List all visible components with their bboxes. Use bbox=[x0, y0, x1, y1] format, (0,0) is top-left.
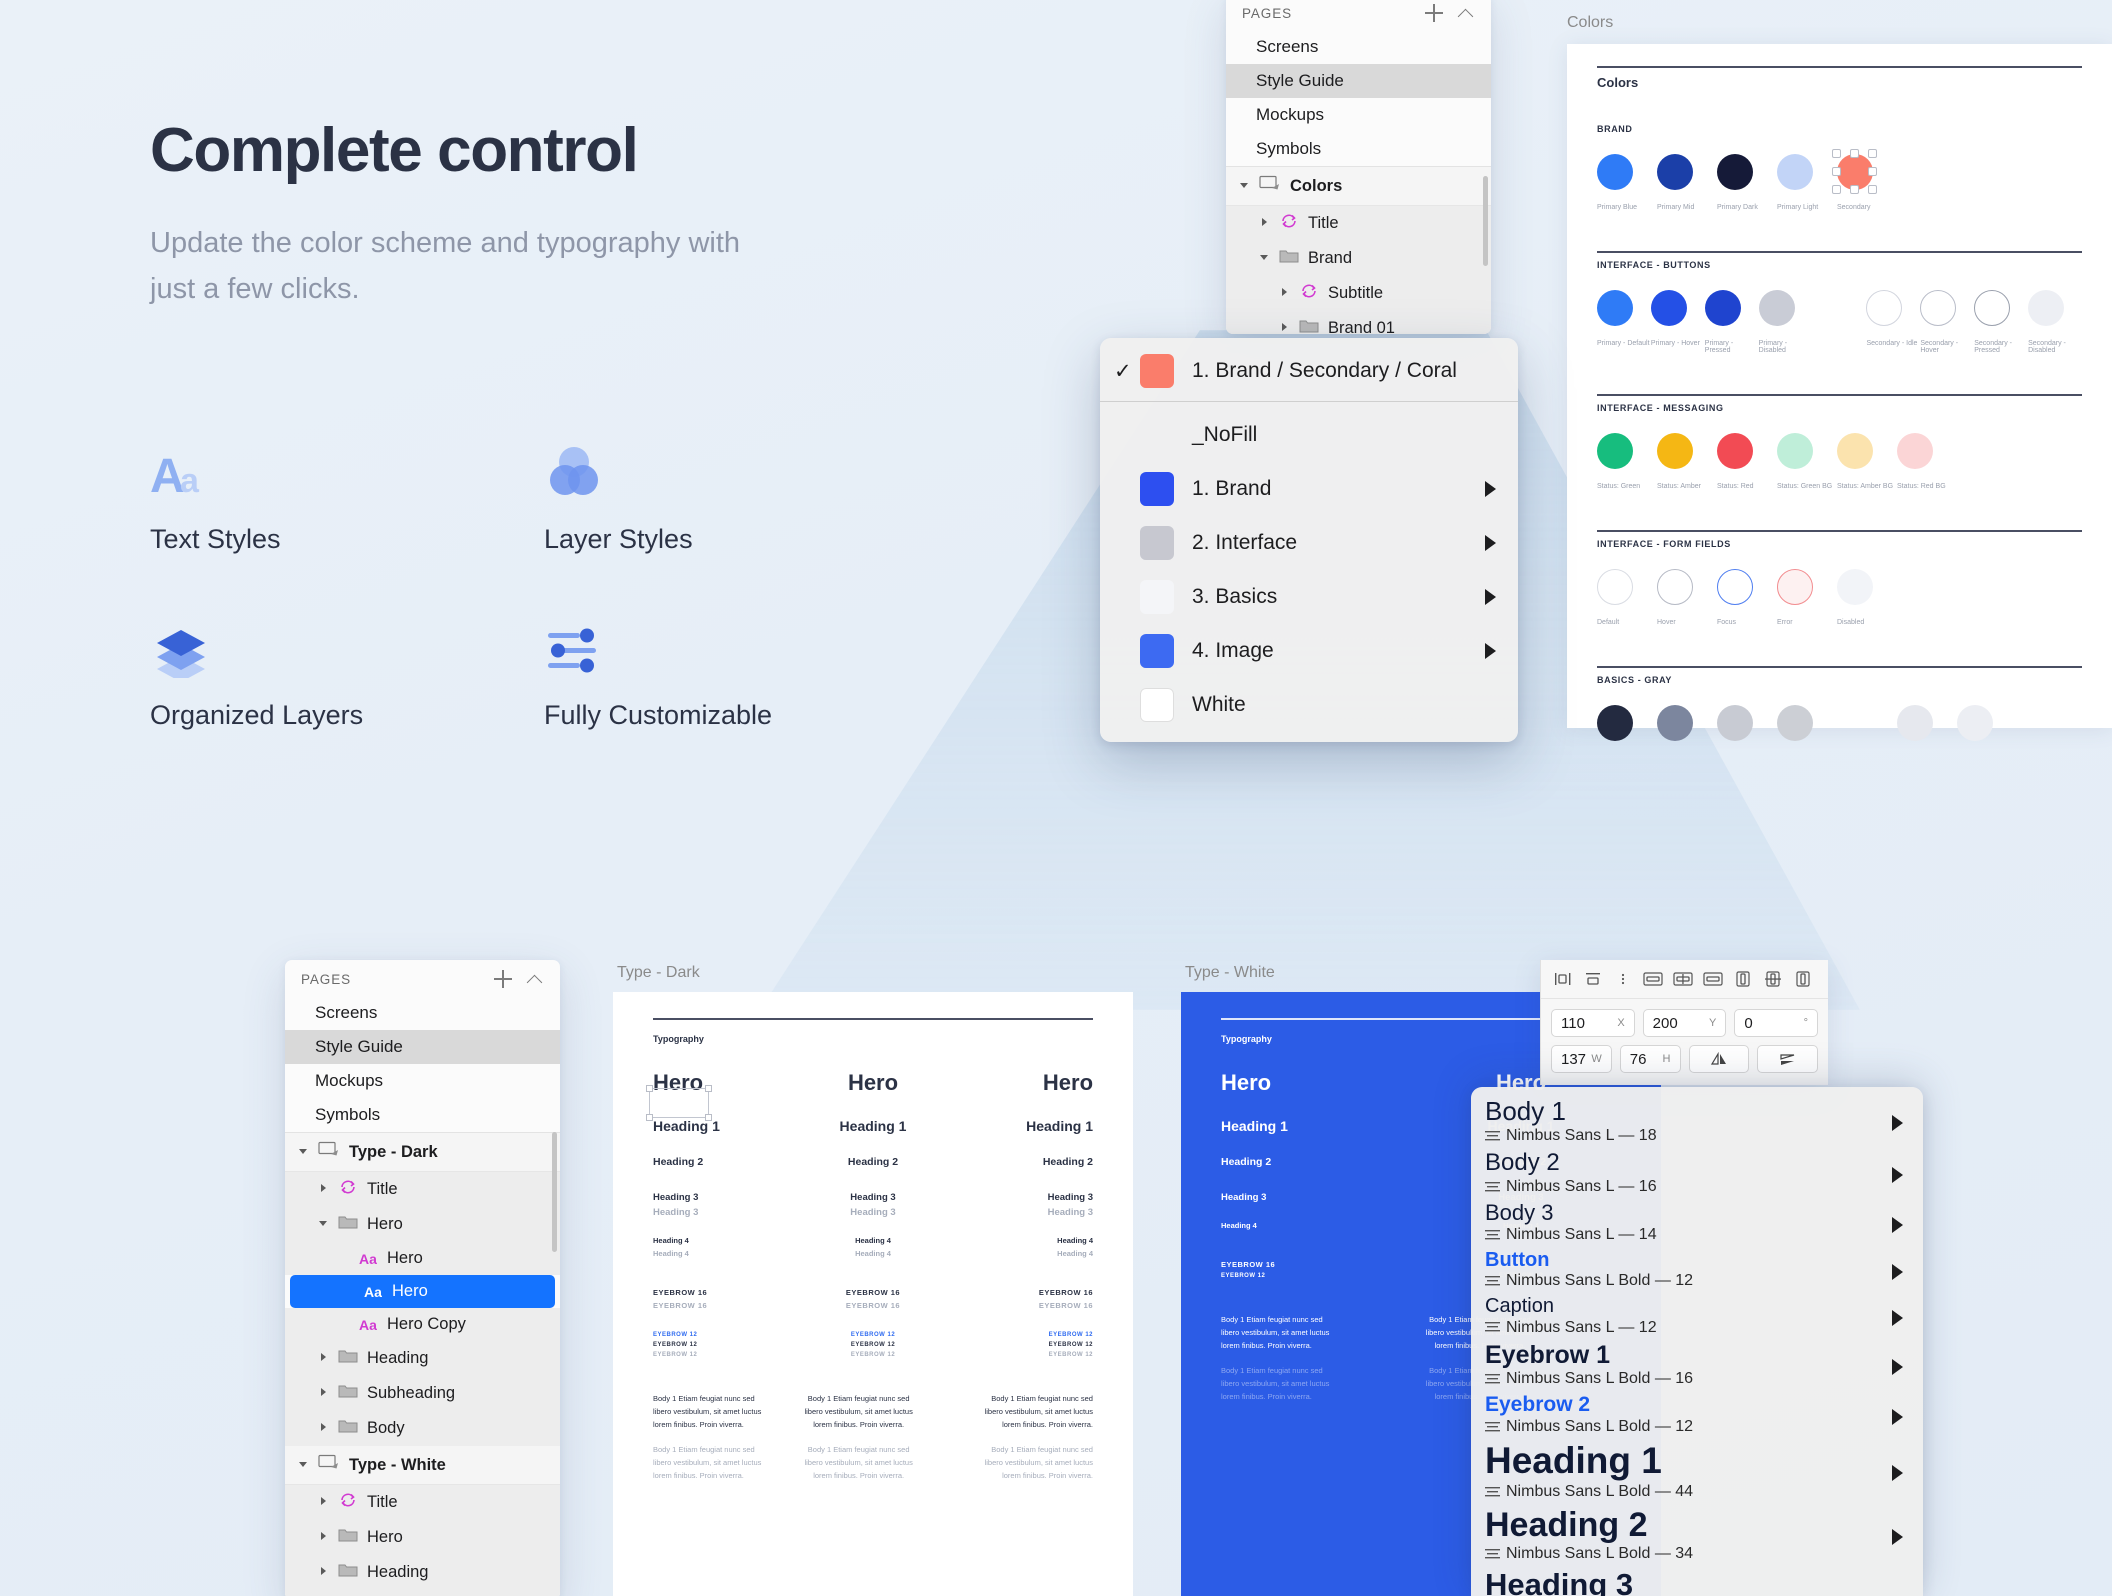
color-menu-item[interactable]: 1. Brand bbox=[1100, 462, 1518, 516]
folder-icon bbox=[1279, 248, 1299, 269]
swatch[interactable]: Disabled bbox=[1837, 569, 1897, 626]
layer-label: Heading bbox=[367, 1563, 428, 1582]
swatch[interactable]: Secondary - Hover bbox=[1920, 290, 1974, 354]
twisty-right-icon[interactable] bbox=[317, 1384, 329, 1403]
swatch[interactable] bbox=[1717, 705, 1777, 755]
type-specimen-cell: Heading 4 bbox=[800, 1249, 947, 1258]
type-specimen-cell: EYEBROW 12 bbox=[946, 1352, 1093, 1358]
folder-icon bbox=[338, 1348, 358, 1369]
color-section: BASICS - GRAY bbox=[1597, 666, 2082, 755]
text-layer-icon: Aa bbox=[358, 1251, 378, 1267]
page-item-mockups[interactable]: Mockups bbox=[1226, 98, 1491, 132]
rule bbox=[1597, 530, 2082, 532]
page-item-style-guide[interactable]: Style Guide bbox=[1226, 64, 1491, 98]
plus-icon[interactable] bbox=[494, 970, 512, 988]
transform-fields[interactable]: 110 X 200 Y 0 ° 137 W 76 H bbox=[1541, 999, 1828, 1085]
submenu-arrow-icon bbox=[1892, 1167, 1903, 1183]
swatch-dot bbox=[1866, 290, 1902, 326]
menu-item-label: 1. Brand bbox=[1192, 477, 1271, 501]
twisty-down-icon[interactable] bbox=[1238, 177, 1250, 196]
height-field[interactable]: 76 H bbox=[1620, 1045, 1681, 1073]
type-specimen-row: Heading 3Heading 3Heading 3 bbox=[613, 1207, 1133, 1218]
marketing-copy: Complete control Update the color scheme… bbox=[150, 118, 890, 313]
layer-label: Heading bbox=[367, 1349, 428, 1368]
layer-row[interactable]: Brand bbox=[1226, 241, 1491, 276]
page-item-screens[interactable]: Screens bbox=[285, 996, 560, 1030]
menu-item-selected[interactable]: ✓ 1. Brand / Secondary / Coral bbox=[1100, 344, 1518, 398]
layer-label: Brand bbox=[1308, 249, 1352, 268]
text-style-meta: Nimbus Sans L Bold — 16 bbox=[1485, 1369, 1909, 1390]
twisty-right-icon[interactable] bbox=[317, 1528, 329, 1547]
twisty-right-icon[interactable] bbox=[317, 1349, 329, 1368]
rule bbox=[653, 1018, 1093, 1020]
text-style-item[interactable]: ButtonNimbus Sans L Bold — 12 bbox=[1471, 1249, 1923, 1295]
text-style-meta-label: Nimbus Sans L Bold — 34 bbox=[1506, 1544, 1693, 1565]
folder-icon bbox=[338, 1562, 358, 1583]
swatch-caption: Error bbox=[1777, 619, 1837, 626]
swatch[interactable] bbox=[1813, 290, 1867, 354]
color-swatch bbox=[1140, 580, 1174, 614]
feature-grid: A a Text Styles Layer Styles Organized L… bbox=[150, 440, 938, 792]
type-specimen-row: EYEBROW 12EYEBROW 12EYEBROW 12 bbox=[613, 1332, 1133, 1338]
color-picker-menu[interactable]: ✓ 1. Brand / Secondary / Coral _NoFill1.… bbox=[1100, 338, 1518, 742]
align-vertical-bottom-icon[interactable] bbox=[1791, 968, 1815, 990]
layer-row[interactable]: Heading bbox=[285, 1555, 560, 1590]
type-specimen-cell: Heading 4 bbox=[1221, 1221, 1421, 1230]
layer-row[interactable]: Brand 01 bbox=[1226, 311, 1491, 334]
text-style-item[interactable]: CaptionNimbus Sans L — 12 bbox=[1471, 1295, 1923, 1341]
swatch-dot bbox=[1657, 433, 1693, 469]
swatch[interactable]: Status: Amber bbox=[1657, 433, 1717, 490]
twisty-down-icon[interactable] bbox=[317, 1215, 329, 1234]
feature-label: Layer Styles bbox=[544, 524, 938, 555]
type-specimen-cell: EYEBROW 12 bbox=[653, 1342, 800, 1348]
type-specimen-cell: Heading 1 bbox=[1221, 1118, 1421, 1134]
rule bbox=[1597, 666, 2082, 668]
text-style-name: Heading 3 bbox=[1485, 1568, 1909, 1596]
swatch-dot bbox=[1597, 433, 1633, 469]
swatch-caption: Primary Mid bbox=[1657, 204, 1717, 211]
swatch-caption: Status: Amber bbox=[1657, 483, 1717, 490]
page-title: Complete control bbox=[150, 118, 890, 183]
layer-row[interactable]: Heading bbox=[285, 1341, 560, 1376]
page-item-symbols[interactable]: Symbols bbox=[1226, 132, 1491, 166]
swatch[interactable]: Secondary - Pressed bbox=[1974, 290, 2028, 354]
twisty-down-icon[interactable] bbox=[1258, 249, 1270, 268]
submenu-arrow-icon bbox=[1892, 1217, 1903, 1233]
align-vertical-center-icon[interactable] bbox=[1761, 968, 1785, 990]
align-toolbar[interactable] bbox=[1541, 960, 1828, 999]
text-style-meta-label: Nimbus Sans L — 14 bbox=[1506, 1225, 1657, 1246]
swatch-caption: Primary Blue bbox=[1597, 204, 1657, 211]
type-specimen-row: Heading 4Heading 4Heading 4 bbox=[613, 1236, 1133, 1245]
text-style-item[interactable]: Eyebrow 2Nimbus Sans L Bold — 12 bbox=[1471, 1393, 1923, 1440]
text-style-item[interactable]: Body 1Nimbus Sans L — 18 bbox=[1471, 1097, 1923, 1150]
inspector-panel[interactable]: 110 X 200 Y 0 ° 137 W 76 H bbox=[1540, 960, 1828, 1085]
swatch-caption: Primary - Pressed bbox=[1705, 340, 1759, 354]
type-specimen-cell: Body 1 Etiam feugiat nunc sed libero ves… bbox=[1221, 1313, 1339, 1352]
text-style-name: Body 2 bbox=[1485, 1150, 1909, 1177]
swatch-caption: Primary - Default bbox=[1597, 340, 1651, 347]
twisty-right-icon[interactable] bbox=[1258, 214, 1270, 233]
swatch[interactable]: Status: Green BG bbox=[1777, 433, 1837, 490]
swatch-dot bbox=[1759, 290, 1795, 326]
layer-group-header[interactable]: Type - White bbox=[285, 1446, 560, 1485]
text-style-item[interactable]: Heading 3 bbox=[1471, 1568, 1923, 1596]
swatch[interactable]: Status: Red BG bbox=[1897, 433, 1957, 490]
swatch[interactable]: Primary Light bbox=[1777, 154, 1837, 211]
swatch-caption: Primary Light bbox=[1777, 204, 1837, 211]
folder-icon bbox=[1299, 318, 1319, 334]
swatch[interactable]: Focus bbox=[1717, 569, 1777, 626]
type-specimen-cell: Heading 2 bbox=[653, 1156, 800, 1168]
type-specimen-cell: EYEBROW 12 bbox=[800, 1352, 947, 1358]
layer-row[interactable]: AaHero bbox=[290, 1275, 555, 1308]
plus-icon[interactable] bbox=[1425, 4, 1443, 22]
type-specimen-cell: Body 1 Etiam feugiat nunc sed libero ves… bbox=[1221, 1364, 1339, 1403]
type-specimen-row: EYEBROW 12EYEBROW 12EYEBROW 12 bbox=[613, 1342, 1133, 1348]
swatch-caption: Secondary - Hover bbox=[1920, 340, 1974, 354]
selection-box[interactable] bbox=[649, 1088, 709, 1118]
rotation-field[interactable]: 0 ° bbox=[1734, 1009, 1818, 1037]
type-specimen-cell: EYEBROW 12 bbox=[946, 1342, 1093, 1348]
swatch-dot bbox=[1657, 705, 1693, 741]
type-specimen-cell: Heading 4 bbox=[800, 1236, 947, 1245]
colors-board-title: Colors bbox=[1597, 75, 2082, 90]
swatch-caption: Default bbox=[1597, 619, 1657, 626]
type-specimen-cell: Body 1 Etiam feugiat nunc sed libero ves… bbox=[975, 1392, 1093, 1431]
pages-list[interactable]: ScreensStyle GuideMockupsSymbols bbox=[1226, 30, 1491, 166]
swatch-caption: Status: Red BG bbox=[1897, 483, 1957, 490]
typography-kicker: Typography bbox=[653, 1034, 1133, 1044]
pages-panel-bottom[interactable]: PAGES ScreensStyle GuideMockupsSymbols T… bbox=[285, 960, 560, 1596]
color-menu-item[interactable]: White bbox=[1100, 678, 1518, 732]
layer-row[interactable]: Subtitle bbox=[1226, 276, 1491, 311]
scrollbar[interactable] bbox=[552, 1132, 557, 1252]
type-specimen-cell: Heading 4 bbox=[946, 1236, 1093, 1245]
align-center-icon[interactable] bbox=[1671, 968, 1695, 990]
distribute-icon[interactable] bbox=[1701, 968, 1725, 990]
more-icon[interactable] bbox=[1611, 968, 1635, 990]
symbol-icon bbox=[1279, 213, 1299, 234]
swatch-row: Primary - DefaultPrimary - HoverPrimary … bbox=[1597, 290, 2082, 354]
type-specimen-cell: Body 1 Etiam feugiat nunc sed libero ves… bbox=[975, 1443, 1093, 1482]
text-style-meta-label: Nimbus Sans L Bold — 12 bbox=[1506, 1271, 1693, 1292]
layer-row[interactable]: Hero bbox=[285, 1207, 560, 1242]
swatch-row: Status: GreenStatus: AmberStatus: RedSta… bbox=[1597, 433, 2082, 490]
layer-label: Title bbox=[367, 1180, 398, 1199]
align-left-icon[interactable] bbox=[1551, 968, 1575, 990]
type-specimen-cell: Body 1 Etiam feugiat nunc sed libero ves… bbox=[800, 1443, 918, 1482]
type-dark-artboard: Type - Dark Typography HeroHeroHeroHeadi… bbox=[613, 964, 1133, 1596]
pages-panel-top[interactable]: PAGES ScreensStyle GuideMockupsSymbols C… bbox=[1226, 0, 1491, 334]
swatch[interactable]: Status: Red bbox=[1717, 433, 1777, 490]
y-field[interactable]: 200 Y bbox=[1643, 1009, 1727, 1037]
pages-panel-header: PAGES bbox=[1226, 0, 1491, 30]
layer-label: Hero bbox=[392, 1282, 428, 1301]
distribute-horizontal-icon[interactable] bbox=[1641, 968, 1665, 990]
submenu-arrow-icon bbox=[1485, 535, 1496, 551]
feature-organized-layers: Organized Layers bbox=[150, 616, 544, 792]
artboard-name: Colors bbox=[1545, 0, 2112, 42]
swatch-dot bbox=[1837, 433, 1873, 469]
layer-label: Brand 01 bbox=[1328, 319, 1395, 334]
swatch-dot bbox=[1597, 705, 1633, 741]
layer-row[interactable]: Subheading bbox=[285, 1376, 560, 1411]
swatch-row: Primary BluePrimary MidPrimary DarkPrima… bbox=[1597, 154, 2082, 211]
swatch[interactable] bbox=[1657, 705, 1717, 755]
swatch[interactable]: Secondary - Idle bbox=[1866, 290, 1920, 354]
type-specimen-cell: Heading 2 bbox=[1221, 1156, 1421, 1168]
symbol-icon bbox=[338, 1492, 358, 1513]
twisty-right-icon[interactable] bbox=[1278, 284, 1290, 303]
width-field[interactable]: 137 W bbox=[1551, 1045, 1612, 1073]
text-styles-icon: A a bbox=[150, 440, 544, 502]
layer-row[interactable]: AaHero bbox=[285, 1242, 560, 1275]
swatch-selected[interactable]: Secondary bbox=[1837, 154, 1897, 211]
swatch[interactable]: Default bbox=[1597, 569, 1657, 626]
twisty-down-icon[interactable] bbox=[297, 1143, 309, 1162]
text-style-meta: Nimbus Sans L Bold — 12 bbox=[1485, 1271, 1909, 1292]
menu-item-label: White bbox=[1192, 693, 1246, 717]
layer-label: Type - Dark bbox=[349, 1143, 438, 1162]
swatch-dot bbox=[1897, 705, 1933, 741]
text-style-name: Body 1 bbox=[1485, 1097, 1909, 1126]
twisty-down-icon[interactable] bbox=[297, 1456, 309, 1475]
swatch-caption: Secondary - Disabled bbox=[2028, 340, 2082, 354]
layer-row[interactable]: Title bbox=[285, 1485, 560, 1520]
menu-item-label: 4. Image bbox=[1192, 639, 1274, 663]
swatch-caption: Hover bbox=[1657, 619, 1717, 626]
chevron-up-icon[interactable] bbox=[526, 970, 544, 988]
color-menu-item[interactable]: 4. Image bbox=[1100, 624, 1518, 678]
text-style-meta-label: Nimbus Sans L — 16 bbox=[1506, 1177, 1657, 1198]
pages-title: PAGES bbox=[301, 972, 351, 987]
swatch[interactable] bbox=[1837, 705, 1897, 755]
submenu-arrow-icon bbox=[1892, 1529, 1903, 1545]
text-style-name: Heading 2 bbox=[1485, 1506, 1909, 1544]
color-section: INTERFACE - BUTTONSPrimary - DefaultPrim… bbox=[1597, 251, 2082, 354]
section-label: INTERFACE - FORM FIELDS bbox=[1597, 539, 2082, 549]
swatch[interactable]: Status: Amber BG bbox=[1837, 433, 1897, 490]
svg-text:a: a bbox=[180, 462, 200, 500]
artboard-name: Type - Dark bbox=[613, 964, 1133, 992]
layer-label: Hero Copy bbox=[387, 1315, 466, 1334]
flip-vertical-icon[interactable] bbox=[1757, 1045, 1818, 1073]
layer-row[interactable]: Subheading bbox=[285, 1590, 560, 1596]
symbol-icon bbox=[338, 1179, 358, 1200]
type-specimen-cell: Heading 3 bbox=[946, 1207, 1093, 1218]
swatch-caption: Primary - Disabled bbox=[1759, 340, 1813, 354]
text-layer-icon: Aa bbox=[358, 1317, 378, 1333]
text-style-item[interactable]: Heading 1Nimbus Sans L Bold — 44 bbox=[1471, 1440, 1923, 1505]
submenu-arrow-icon bbox=[1892, 1409, 1903, 1425]
scrollbar[interactable] bbox=[1483, 176, 1488, 266]
text-style-meta: Nimbus Sans L — 18 bbox=[1485, 1126, 1909, 1147]
folder-icon bbox=[338, 1214, 358, 1235]
swatch-dot bbox=[1597, 569, 1633, 605]
type-specimen-cell: EYEBROW 16 bbox=[800, 1301, 947, 1310]
swatch-dot bbox=[1597, 154, 1633, 190]
page-item-symbols[interactable]: Symbols bbox=[285, 1098, 560, 1132]
swatch-dot bbox=[1777, 705, 1813, 741]
layer-row[interactable]: Title bbox=[1226, 206, 1491, 241]
twisty-right-icon[interactable] bbox=[317, 1180, 329, 1199]
swatch[interactable]: Hover bbox=[1657, 569, 1717, 626]
layer-row[interactable]: AaHero Copy bbox=[285, 1308, 560, 1341]
submenu-arrow-icon bbox=[1485, 643, 1496, 659]
artboard-icon bbox=[318, 1141, 340, 1163]
color-swatch bbox=[1140, 526, 1174, 560]
layer-tree[interactable]: ColorsTitleBrandSubtitleBrand 01Brand 02 bbox=[1226, 167, 1491, 334]
type-specimen-cell: EYEBROW 12 bbox=[653, 1332, 800, 1338]
swatch[interactable] bbox=[1957, 705, 2017, 755]
fully-customizable-icon bbox=[544, 616, 938, 678]
color-section: INTERFACE - MESSAGINGStatus: GreenStatus… bbox=[1597, 394, 2082, 490]
pages-list[interactable]: ScreensStyle GuideMockupsSymbols bbox=[285, 996, 560, 1132]
type-specimen-cell: Heading 3 bbox=[653, 1192, 800, 1203]
menu-divider bbox=[1100, 401, 1518, 402]
color-menu-item[interactable]: _NoFill bbox=[1100, 408, 1518, 462]
section-label: INTERFACE - BUTTONS bbox=[1597, 260, 2082, 270]
colors-artboard: Colors Colors BRANDPrimary BluePrimary M… bbox=[1545, 0, 2112, 728]
type-specimen-row: Heading 1Heading 1Heading 1 bbox=[613, 1118, 1133, 1134]
type-specimen-cell: Body 1 Etiam feugiat nunc sed libero ves… bbox=[653, 1443, 771, 1482]
type-specimen-cell: EYEBROW 16 bbox=[1221, 1260, 1421, 1269]
color-menu-item[interactable]: 3. Basics bbox=[1100, 570, 1518, 624]
align-top-icon[interactable] bbox=[1581, 968, 1605, 990]
swatch-caption: Secondary - Idle bbox=[1866, 340, 1920, 347]
swatch[interactable]: Primary Dark bbox=[1717, 154, 1777, 211]
swatch-dot bbox=[1717, 705, 1753, 741]
twisty-right-icon[interactable] bbox=[1278, 319, 1290, 334]
color-swatch bbox=[1140, 688, 1174, 722]
layer-row[interactable]: Hero bbox=[285, 1520, 560, 1555]
twisty-right-icon[interactable] bbox=[317, 1563, 329, 1582]
color-menu-items[interactable]: _NoFill1. Brand2. Interface3. Basics4. I… bbox=[1100, 408, 1518, 732]
feature-label: Organized Layers bbox=[150, 700, 544, 731]
text-style-meta: Nimbus Sans L Bold — 12 bbox=[1485, 1417, 1909, 1438]
swatch-dot bbox=[1897, 433, 1933, 469]
text-style-meta: Nimbus Sans L — 12 bbox=[1485, 1318, 1909, 1339]
type-specimen-cell: EYEBROW 12 bbox=[946, 1332, 1093, 1338]
layer-group-header[interactable]: Type - Dark bbox=[285, 1133, 560, 1172]
swatch[interactable]: Error bbox=[1777, 569, 1837, 626]
folder-icon bbox=[338, 1383, 358, 1404]
section-label: BRAND bbox=[1597, 124, 2082, 134]
text-style-item[interactable]: Body 2Nimbus Sans L — 16 bbox=[1471, 1150, 1923, 1201]
layer-row[interactable]: Title bbox=[285, 1172, 560, 1207]
layer-label: Title bbox=[367, 1493, 398, 1512]
text-style-items[interactable]: Body 1Nimbus Sans L — 18Body 2Nimbus San… bbox=[1471, 1097, 1923, 1596]
color-section: BRANDPrimary BluePrimary MidPrimary Dark… bbox=[1597, 124, 2082, 211]
type-specimen-cell: EYEBROW 12 bbox=[800, 1332, 947, 1338]
type-specimen-cell: Heading 4 bbox=[653, 1236, 800, 1245]
type-specimen-row: Body 1 Etiam feugiat nunc sed libero ves… bbox=[613, 1392, 1133, 1431]
x-field[interactable]: 110 X bbox=[1551, 1009, 1635, 1037]
section-label: BASICS - GRAY bbox=[1597, 675, 2082, 685]
type-specimen-row: Heading 4Heading 4Heading 4 bbox=[613, 1249, 1133, 1258]
swatch-dot bbox=[1717, 569, 1753, 605]
twisty-right-icon[interactable] bbox=[317, 1419, 329, 1438]
text-style-item[interactable]: Heading 2Nimbus Sans L Bold — 34 bbox=[1471, 1506, 1923, 1568]
color-menu-item[interactable]: 2. Interface bbox=[1100, 516, 1518, 570]
layer-tree[interactable]: Type - DarkTitleHeroAaHeroAaHeroAaHero C… bbox=[285, 1133, 560, 1596]
text-style-item[interactable]: Body 3Nimbus Sans L — 14 bbox=[1471, 1201, 1923, 1249]
swatch-caption: Status: Green bbox=[1597, 483, 1657, 490]
check-icon: ✓ bbox=[1114, 359, 1140, 384]
swatch-dot bbox=[1597, 290, 1633, 326]
text-layer-icon: Aa bbox=[363, 1284, 383, 1300]
type-specimen-cell: EYEBROW 12 bbox=[800, 1342, 947, 1348]
type-specimen-cell: Heading 3 bbox=[800, 1192, 947, 1203]
swatch[interactable]: Secondary - Disabled bbox=[2028, 290, 2082, 354]
text-style-name: Button bbox=[1485, 1249, 1909, 1271]
swatch[interactable]: Primary - Default bbox=[1597, 290, 1651, 354]
type-specimen-cell: EYEBROW 16 bbox=[946, 1301, 1093, 1310]
type-specimen-row: Body 1 Etiam feugiat nunc sed libero ves… bbox=[613, 1443, 1133, 1482]
swatch[interactable] bbox=[1597, 705, 1657, 755]
type-dark-canvas: Typography HeroHeroHeroHeading 1Heading … bbox=[613, 992, 1133, 1596]
type-specimen-cell: Hero bbox=[1221, 1070, 1421, 1096]
swatch-caption: Secondary - Pressed bbox=[1974, 340, 2028, 354]
folder-icon bbox=[338, 1418, 358, 1439]
type-specimen-cell: Heading 4 bbox=[946, 1249, 1093, 1258]
submenu-arrow-icon bbox=[1485, 589, 1496, 605]
swatch-dot bbox=[1777, 154, 1813, 190]
swatch[interactable]: Primary Mid bbox=[1657, 154, 1717, 211]
swatch[interactable] bbox=[1897, 705, 1957, 755]
menu-item-label: _NoFill bbox=[1192, 423, 1257, 447]
swatch-caption: Disabled bbox=[1837, 619, 1897, 626]
swatch[interactable]: Primary Blue bbox=[1597, 154, 1657, 211]
page-item-style-guide[interactable]: Style Guide bbox=[285, 1030, 560, 1064]
layer-label: Hero bbox=[367, 1215, 403, 1234]
swatch[interactable]: Primary - Hover bbox=[1651, 290, 1705, 354]
text-style-meta-label: Nimbus Sans L Bold — 12 bbox=[1506, 1417, 1693, 1438]
type-specimen-row: Heading 2Heading 2Heading 2 bbox=[613, 1156, 1133, 1168]
swatch-dot bbox=[1651, 290, 1687, 326]
swatch[interactable] bbox=[1777, 705, 1837, 755]
text-style-name: Body 3 bbox=[1485, 1201, 1909, 1226]
page-item-mockups[interactable]: Mockups bbox=[285, 1064, 560, 1098]
text-styles-menu[interactable]: Body 1Nimbus Sans L — 18Body 2Nimbus San… bbox=[1471, 1087, 1923, 1596]
text-style-meta: Nimbus Sans L — 16 bbox=[1485, 1177, 1909, 1198]
layer-label: Body bbox=[367, 1419, 405, 1438]
layer-group-header[interactable]: Colors bbox=[1226, 167, 1491, 206]
flip-horizontal-icon[interactable] bbox=[1689, 1045, 1750, 1073]
type-specimen-cell: Heading 2 bbox=[800, 1156, 947, 1168]
align-vertical-top-icon[interactable] bbox=[1731, 968, 1755, 990]
page-item-screens[interactable]: Screens bbox=[1226, 30, 1491, 64]
layer-row[interactable]: Body bbox=[285, 1411, 560, 1446]
text-style-item[interactable]: Eyebrow 1Nimbus Sans L Bold — 16 bbox=[1471, 1341, 1923, 1393]
section-label: INTERFACE - MESSAGING bbox=[1597, 403, 2082, 413]
artboard-icon bbox=[318, 1454, 340, 1476]
text-style-meta-label: Nimbus Sans L — 12 bbox=[1506, 1318, 1657, 1339]
twisty-right-icon[interactable] bbox=[317, 1493, 329, 1512]
swatch-dot bbox=[1920, 290, 1956, 326]
type-specimen-cell: Heading 3 bbox=[653, 1207, 800, 1218]
swatch[interactable]: Primary - Pressed bbox=[1705, 290, 1759, 354]
type-specimen-cell: Body 1 Etiam feugiat nunc sed libero ves… bbox=[800, 1392, 918, 1431]
swatch[interactable]: Primary - Disabled bbox=[1759, 290, 1813, 354]
chevron-up-icon[interactable] bbox=[1457, 4, 1475, 22]
text-style-meta: Nimbus Sans L Bold — 44 bbox=[1485, 1482, 1909, 1503]
swatch[interactable]: Status: Green bbox=[1597, 433, 1657, 490]
type-specimen-cell: Hero bbox=[800, 1070, 947, 1096]
selected-swatch-handles[interactable] bbox=[1837, 154, 1873, 190]
